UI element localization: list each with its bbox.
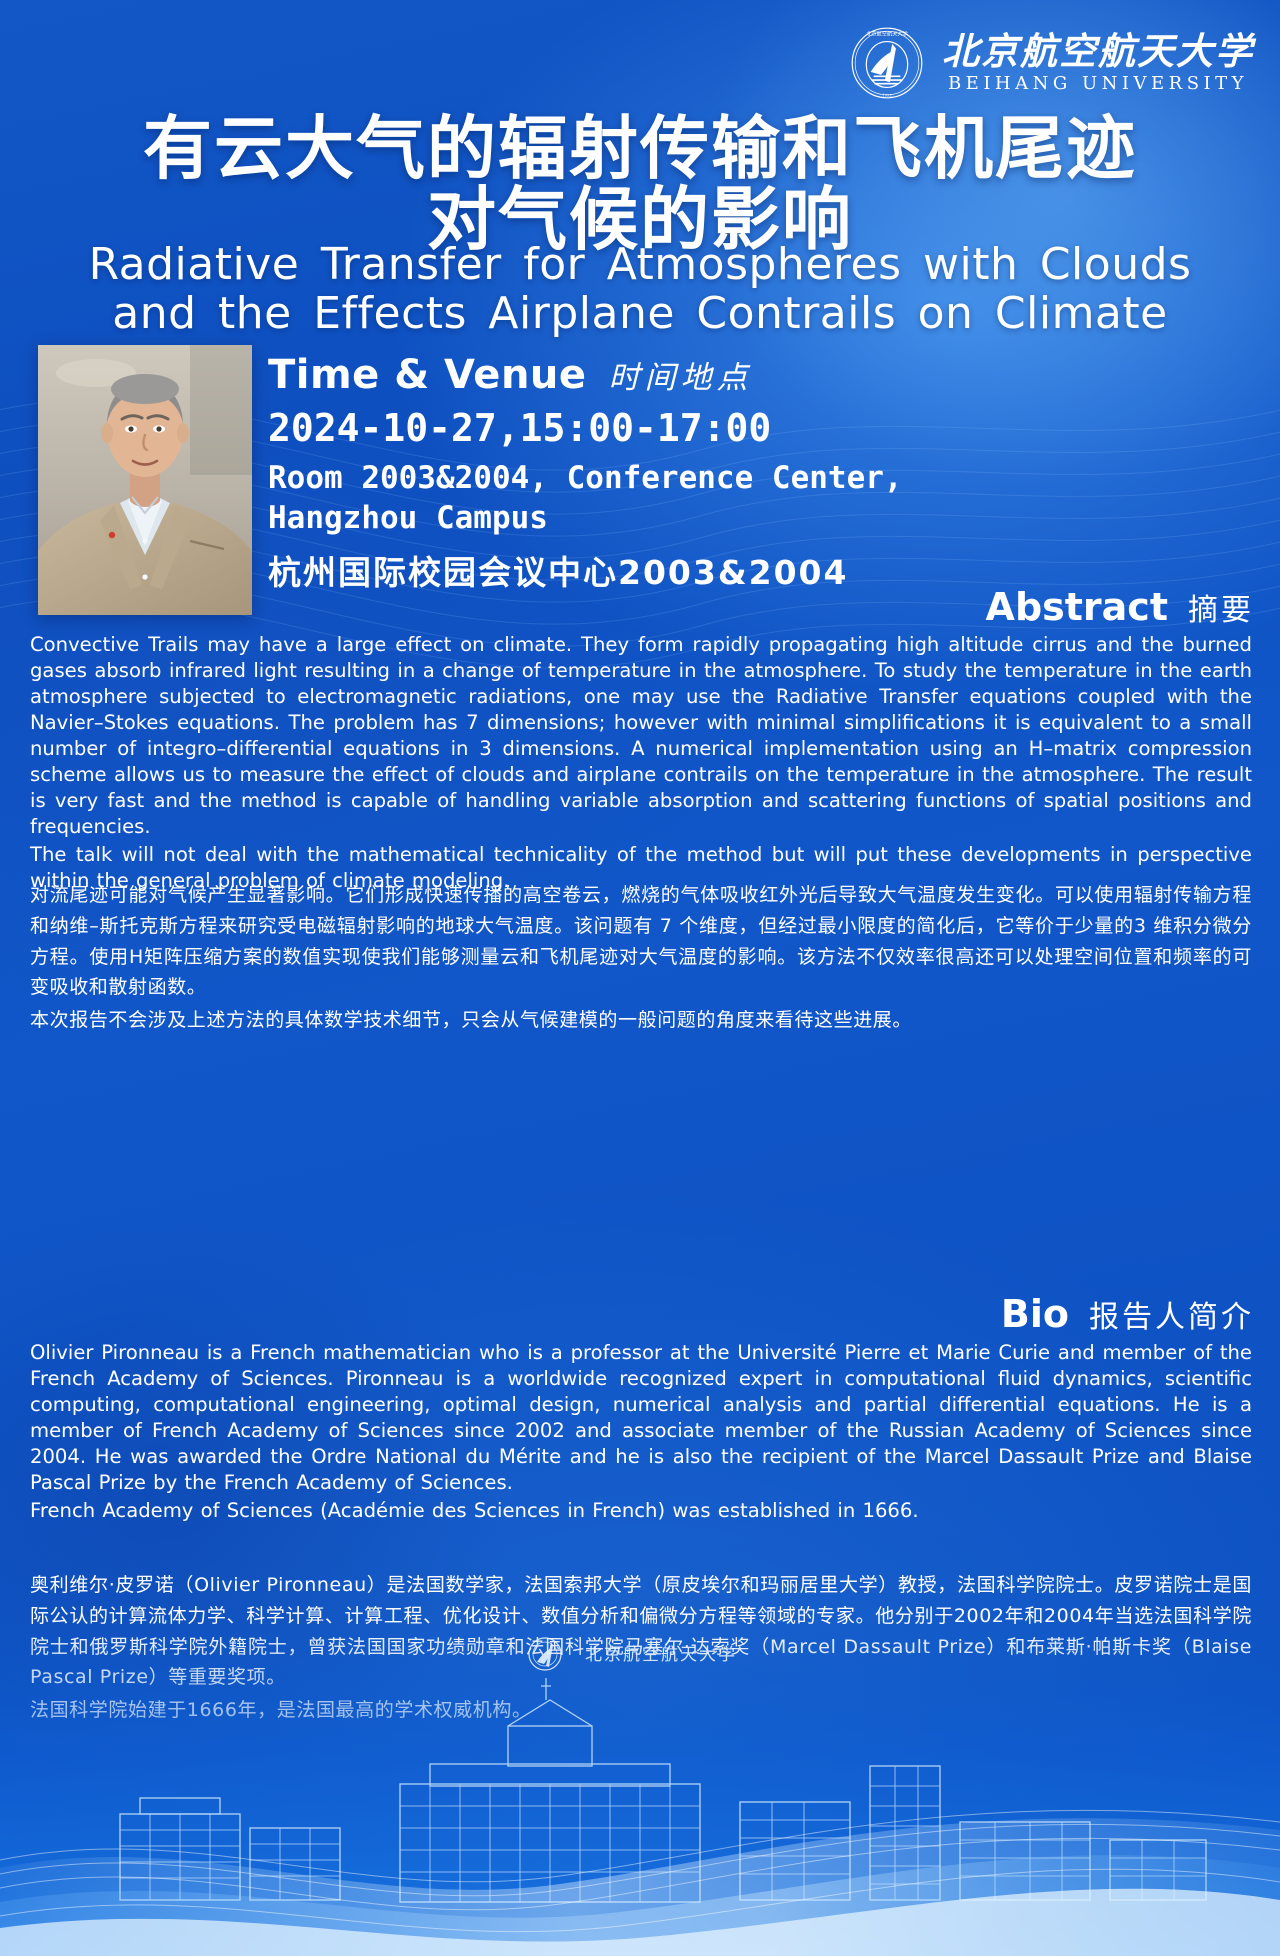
abstract-heading-en: Abstract (986, 585, 1168, 629)
bio-paragraph-cn-2: 法国科学院始建于1666年，是法国最高的学术权威机构。 (30, 1695, 1252, 1726)
bio-paragraph-cn-1: 奥利维尔·皮罗诺（Olivier Pironneau）是法国数学家，法国索邦大学… (30, 1570, 1252, 1693)
poster-header: 北京航空航天大学 1952 北京航空航天大学 BEIHANG UNIVERSIT… (850, 24, 1254, 102)
venue-heading: Time & Venue 时间地点 (268, 352, 1258, 398)
bio-paragraph-en-2: French Academy of Sciences (Académie des… (30, 1498, 1252, 1524)
abstract-body-en: Convective Trails may have a large effec… (30, 632, 1252, 894)
abstract-heading: Abstract 摘要 (986, 585, 1254, 629)
venue-datetime: 2024-10-27,15:00-17:00 (268, 406, 1258, 452)
poster-title-en: Radiative Transfer for Atmospheres with … (0, 240, 1280, 339)
university-name-en: BEIHANG UNIVERSITY (948, 75, 1248, 93)
venue-heading-cn: 时间地点 (609, 352, 753, 397)
poster-root: 北京航空航天大学 1952 北京航空航天大学 BEIHANG UNIVERSIT… (0, 0, 1280, 1956)
title-en-line2: and the Effects Airplane Contrails on Cl… (0, 289, 1280, 338)
title-cn-line1: 有云大气的辐射传输和飞机尾迹 (143, 109, 1137, 189)
poster-title-cn: 有云大气的辐射传输和飞机尾迹 对气候的影响 (0, 114, 1280, 256)
bio-heading-cn: 报告人简介 (1089, 1292, 1254, 1336)
venue-room-en: Room 2003&2004, Conference Center, Hangz… (268, 458, 908, 539)
speaker-portrait-image (38, 345, 252, 615)
university-wordmark: 北京航空航天大学 BEIHANG UNIVERSITY (942, 33, 1254, 93)
abstract-paragraph-en-1: Convective Trails may have a large effec… (30, 632, 1252, 840)
bio-body-cn: 奥利维尔·皮罗诺（Olivier Pironneau）是法国数学家，法国索邦大学… (30, 1570, 1252, 1726)
bio-heading-en: Bio (1001, 1292, 1069, 1336)
beihang-seal-icon: 北京航空航天大学 1952 (850, 26, 924, 100)
time-and-venue-block: Time & Venue 时间地点 2024-10-27,15:00-17:00… (268, 352, 1258, 594)
abstract-heading-cn: 摘要 (1188, 585, 1254, 629)
abstract-body-cn: 对流尾迹可能对气候产生显著影响。它们形成快速传播的高空卷云，燃烧的气体吸收红外光… (30, 880, 1252, 1036)
bio-heading: Bio 报告人简介 (1001, 1292, 1254, 1336)
speaker-portrait (38, 345, 252, 615)
abstract-paragraph-cn-1: 对流尾迹可能对气候产生显著影响。它们形成快速传播的高空卷云，燃烧的气体吸收红外光… (30, 880, 1252, 1003)
bio-paragraph-en-1: Olivier Pironneau is a French mathematic… (30, 1340, 1252, 1496)
bio-body-en: Olivier Pironneau is a French mathematic… (30, 1340, 1252, 1524)
university-name-cn: 北京航空航天大学 (942, 33, 1254, 70)
venue-heading-en: Time & Venue (268, 352, 587, 398)
title-en-line1: Radiative Transfer for Atmospheres with … (89, 239, 1192, 290)
abstract-paragraph-cn-2: 本次报告不会涉及上述方法的具体数学技术细节，只会从气候建模的一般问题的角度来看待… (30, 1005, 1252, 1036)
svg-text:1952: 1952 (882, 93, 891, 97)
